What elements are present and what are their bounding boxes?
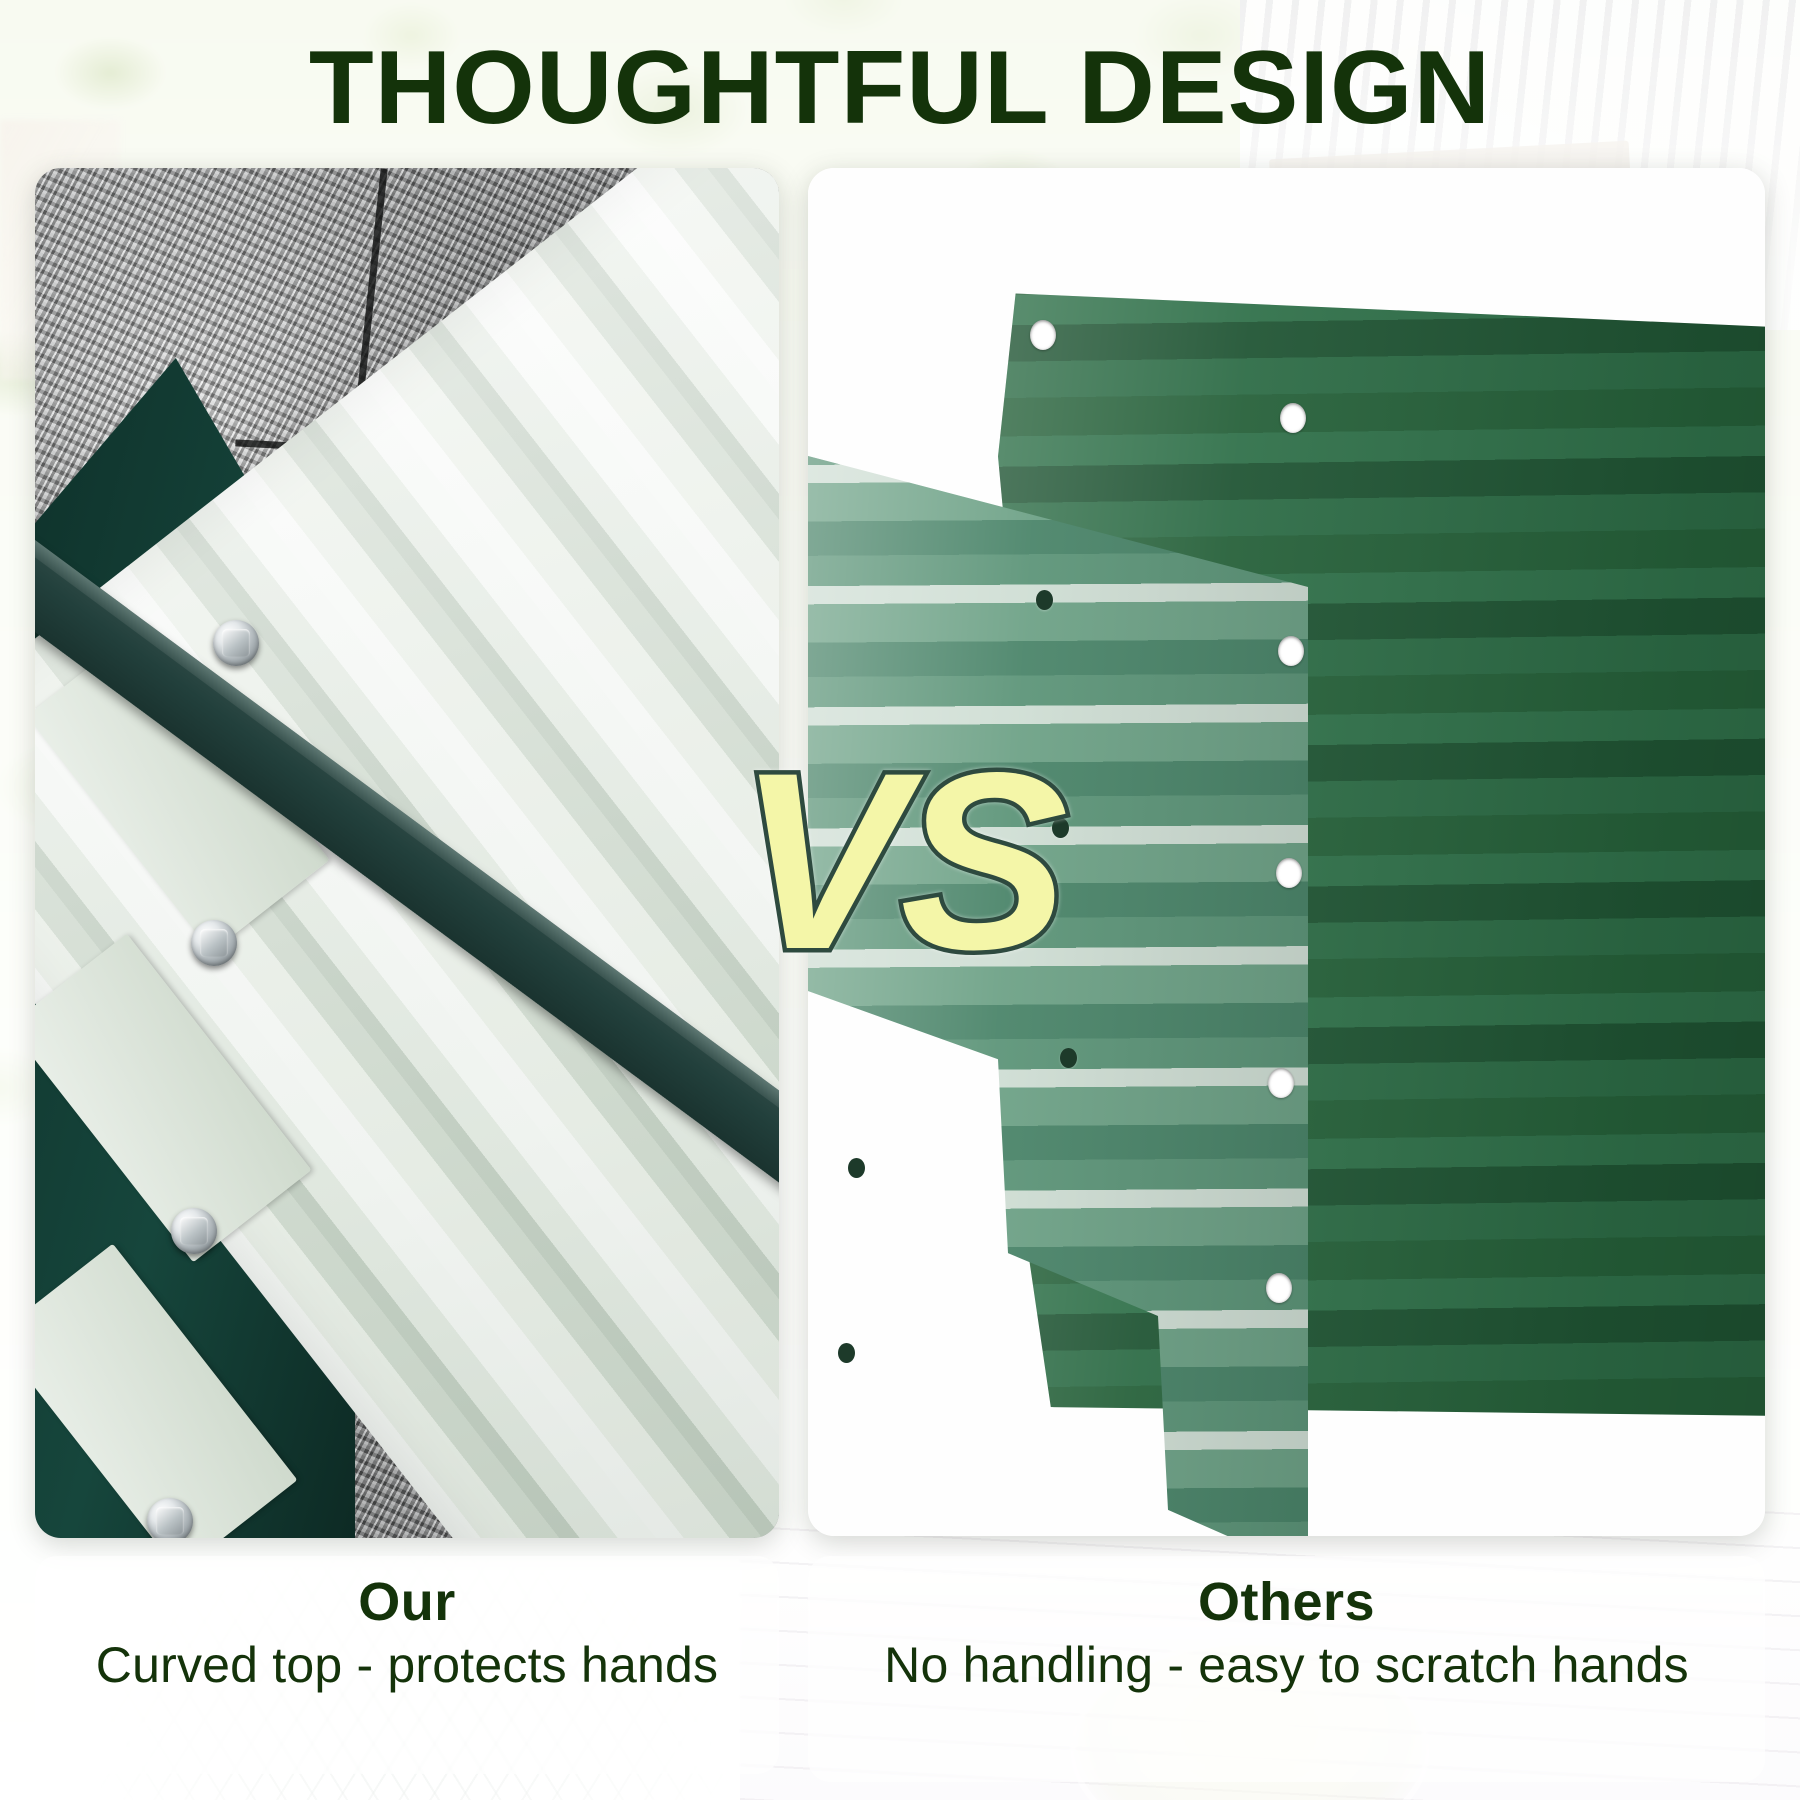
caption-heading-ours: Our xyxy=(59,1574,755,1631)
hex-bolt-icon xyxy=(147,1498,193,1538)
caption-text-others: No handling - easy to scratch hands xyxy=(832,1637,1741,1694)
hex-bolt-icon xyxy=(213,620,259,666)
mounting-hole-icon xyxy=(838,1343,855,1363)
mounting-hole-icon xyxy=(1036,590,1053,610)
mounting-hole-icon xyxy=(1266,1273,1292,1303)
mounting-hole-icon xyxy=(1278,636,1304,666)
page-title: THOUGHTFUL DESIGN xyxy=(0,36,1800,140)
mounting-hole-icon xyxy=(1060,1048,1077,1068)
vs-badge: VS xyxy=(0,736,1800,988)
mounting-hole-icon xyxy=(1030,320,1056,350)
mounting-hole-icon xyxy=(848,1158,865,1178)
caption-heading-others: Others xyxy=(832,1574,1741,1631)
mounting-hole-icon xyxy=(1280,403,1306,433)
caption-card-others: Others No handling - easy to scratch han… xyxy=(808,1556,1765,1782)
mounting-hole-icon xyxy=(1268,1068,1294,1098)
hex-bolt-icon xyxy=(171,1208,217,1254)
caption-text-ours: Curved top - protects hands xyxy=(59,1637,755,1694)
caption-card-ours: Our Curved top - protects hands xyxy=(35,1556,779,1774)
